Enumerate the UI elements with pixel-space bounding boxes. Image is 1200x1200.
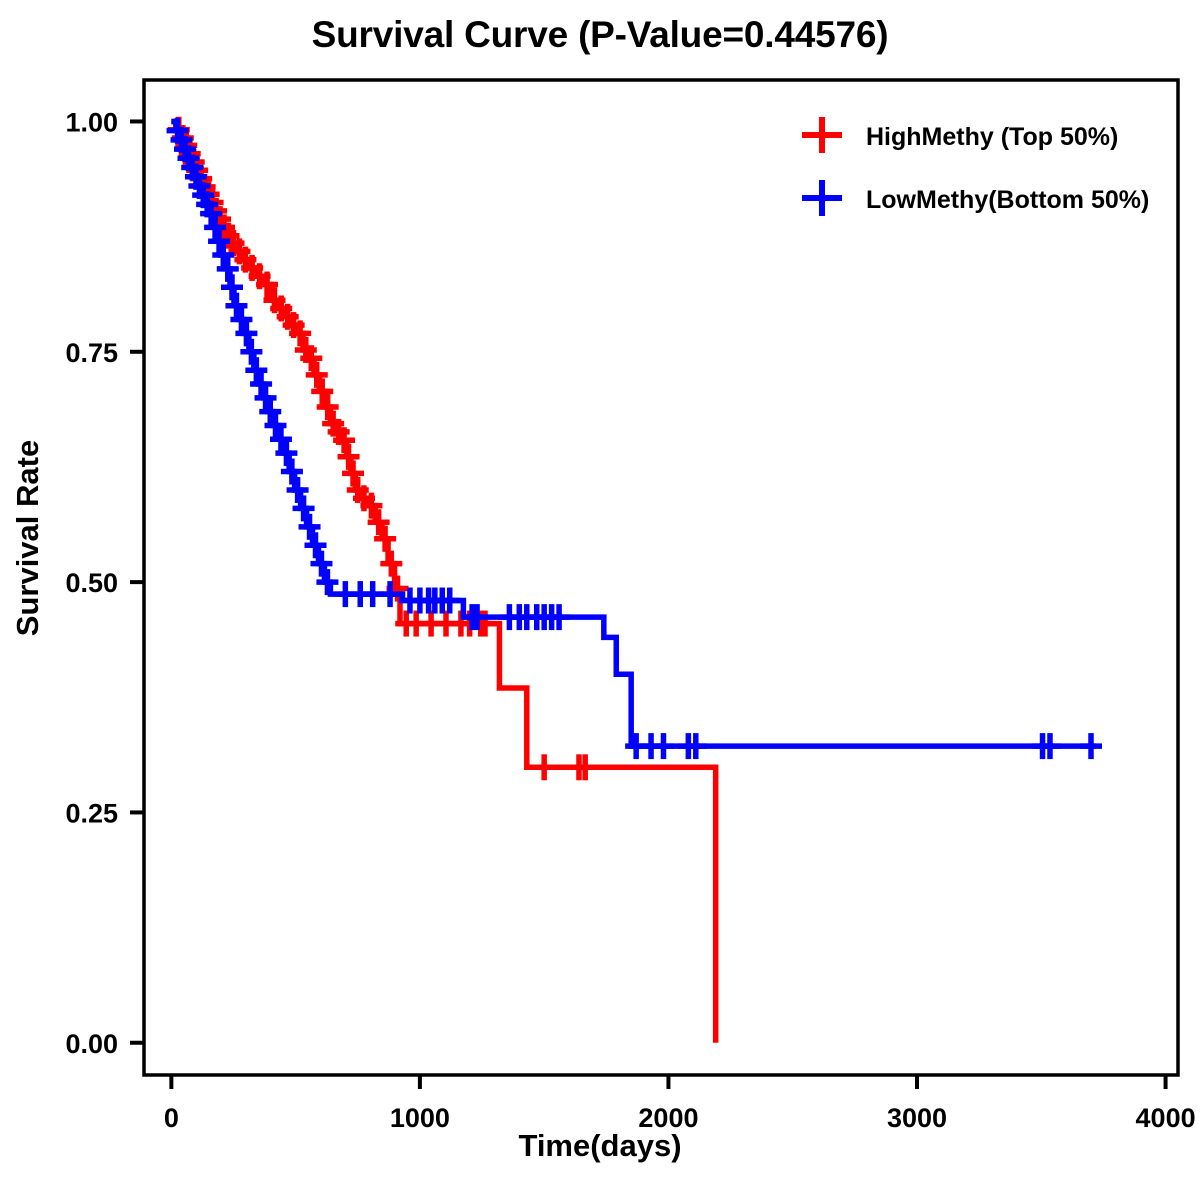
survival-curve-high-methy	[168, 117, 716, 1043]
legend-label: LowMethy(Bottom 50%)	[866, 186, 1149, 214]
x-tick-label: 0	[164, 1103, 179, 1133]
plot-area: 010002000300040000.000.250.500.751.00 Hi…	[0, 0, 1200, 1200]
legend-entry-low-methy[interactable]: LowMethy(Bottom 50%)	[802, 180, 1149, 216]
y-tick-label: 0.00	[65, 1029, 118, 1059]
legend-label: HighMethy (Top 50%)	[866, 123, 1118, 151]
x-tick-label: 4000	[1136, 1103, 1196, 1133]
y-tick-label: 1.00	[65, 107, 118, 137]
y-tick-label: 0.50	[65, 568, 118, 598]
legend-layer: HighMethy (Top 50%)LowMethy(Bottom 50%)	[802, 117, 1149, 216]
plot-frame	[144, 80, 1178, 1075]
step-line	[171, 121, 1096, 746]
y-tick-label: 0.75	[65, 338, 118, 368]
legend-entry-high-methy[interactable]: HighMethy (Top 50%)	[802, 117, 1118, 153]
curve-layer	[167, 117, 1102, 1043]
y-tick-label: 0.25	[65, 798, 118, 828]
x-tick-label: 3000	[887, 1103, 947, 1133]
x-tick-label: 2000	[638, 1103, 698, 1133]
x-tick-label: 1000	[390, 1103, 450, 1133]
survival-curve-figure: Survival Curve (P-Value=0.44576) Surviva…	[0, 0, 1200, 1200]
